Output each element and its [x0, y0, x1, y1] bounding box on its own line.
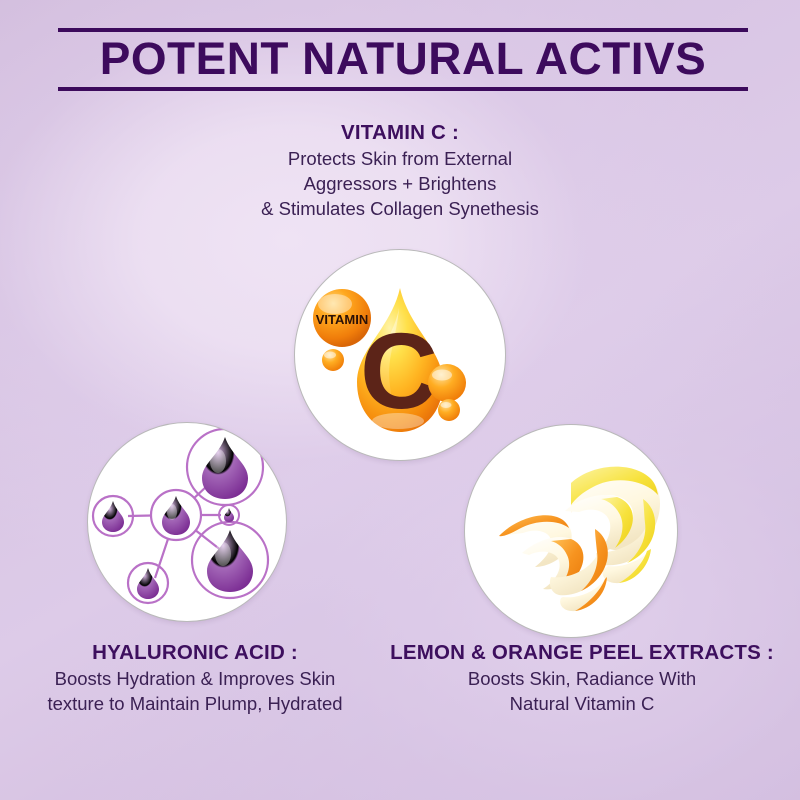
vitamin-badge-gloss [318, 294, 352, 314]
orange-peel-spiral [499, 515, 608, 611]
caption-lemon-orange-peel: LEMON & ORANGE PEEL EXTRACTS : Boosts Sk… [382, 640, 782, 716]
droplet-letter: C [360, 310, 438, 431]
hyaluronic-acid-icon-circle [87, 422, 287, 622]
vitamin-c-droplet-icon: C VITAMIN [295, 250, 505, 460]
hyaluronic-molecule-icon [88, 423, 286, 621]
bubble-icon [428, 364, 466, 402]
citrus-peel-icon-circle [464, 424, 678, 638]
caption-line: Boosts Skin, Radiance With [382, 666, 782, 691]
title-rule-bottom [58, 87, 748, 91]
bubble-gloss [324, 352, 336, 359]
molecule-node-small [219, 505, 239, 525]
page-title: POTENT NATURAL ACTIVS [51, 35, 755, 85]
poster-canvas: POTENT NATURAL ACTIVS VITAMIN C : Protec… [0, 0, 800, 800]
molecule-node [192, 522, 268, 598]
caption-vitamin-c: VITAMIN C : Protects Skin from External … [190, 120, 610, 221]
caption-line: Natural Vitamin C [382, 691, 782, 716]
caption-hyaluronic-acid: HYALURONIC ACID : Boosts Hydration & Imp… [10, 640, 380, 716]
vitamin-c-icon-circle: C VITAMIN [294, 249, 506, 461]
caption-line: Aggressors + Brightens [190, 171, 610, 196]
bubble-gloss [441, 402, 452, 408]
vitamin-badge-label: VITAMIN [316, 312, 368, 327]
caption-line: & Stimulates Collagen Synethesis [190, 196, 610, 221]
bubble-icon [438, 399, 460, 421]
caption-line: Protects Skin from External [190, 146, 610, 171]
molecule-node [187, 429, 263, 505]
citrus-peel-spiral-icon [465, 425, 677, 637]
molecule-node-center [151, 490, 201, 540]
title-block: POTENT NATURAL ACTIVS [58, 28, 748, 91]
caption-line: texture to Maintain Plump, Hydrated [10, 691, 380, 716]
caption-heading-vitamin-c: VITAMIN C : [190, 120, 610, 146]
molecule-node [128, 563, 168, 603]
bubble-gloss [432, 370, 452, 381]
title-rule-top [58, 28, 748, 32]
caption-heading-hyaluronic-acid: HYALURONIC ACID : [10, 640, 380, 666]
molecule-node [93, 496, 133, 536]
caption-line: Boosts Hydration & Improves Skin [10, 666, 380, 691]
caption-heading-lemon-orange-peel: LEMON & ORANGE PEEL EXTRACTS : [382, 640, 782, 666]
